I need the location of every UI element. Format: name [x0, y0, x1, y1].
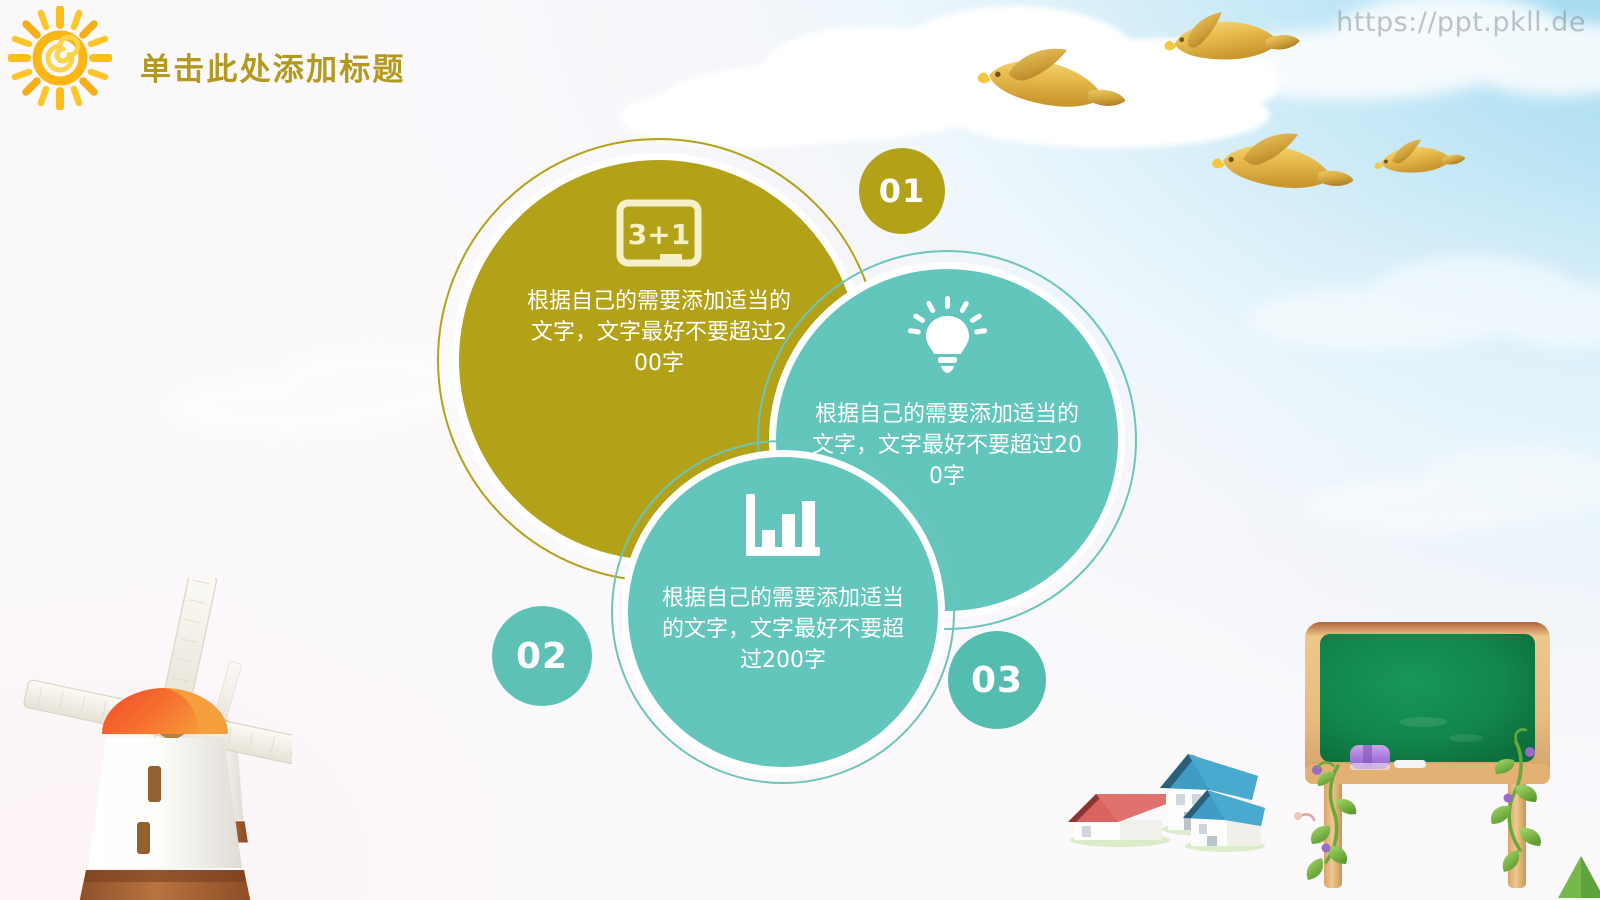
circle-body: 根据自己的需要添加适当的文字，文字最好不要超过200字: [628, 457, 938, 767]
slide-canvas: https://ppt.pkll.de: [0, 0, 1600, 900]
cloud-group-low-right: [1300, 430, 1600, 550]
lightbulb-icon: [905, 299, 989, 373]
blackboard-icon-text: 3+1: [628, 218, 690, 251]
chalkboard-icon: [1268, 600, 1598, 890]
windmill-icon: [22, 578, 292, 900]
flying-bird-icon: [975, 38, 1131, 116]
bar-chart-icon: [744, 491, 822, 565]
flying-bird-icon: [1162, 7, 1300, 64]
slide-header: 单击此处添加标题: [0, 0, 620, 128]
status-badge-02[interactable]: 02: [492, 606, 592, 706]
eraser-icon: [1350, 745, 1390, 770]
page-title: 单击此处添加标题: [140, 44, 406, 89]
bush-icon: [1556, 852, 1600, 900]
status-badge-03[interactable]: 03: [948, 631, 1046, 729]
info-circle-02[interactable]: 根据自己的需要添加适当的文字，文字最好不要超过200字: [611, 440, 955, 784]
circle-body-text: 根据自己的需要添加适当的文字，文字最好不要超过200字: [525, 286, 793, 380]
circle-body-text: 根据自己的需要添加适当的文字，文字最好不要超过200字: [658, 583, 908, 677]
hand-drawn-sun-icon: [8, 6, 112, 110]
chalkboard-surface: [1320, 634, 1535, 762]
status-badge-01[interactable]: 01: [859, 148, 945, 234]
house-icon: [1177, 780, 1273, 854]
chalk-icon: [1394, 760, 1426, 768]
flying-bird-icon: [1372, 135, 1466, 177]
watermark-url: https://ppt.pkll.de: [1336, 7, 1586, 38]
blackboard-math-icon: 3+1: [616, 198, 702, 272]
flying-bird-icon: [1210, 126, 1357, 195]
